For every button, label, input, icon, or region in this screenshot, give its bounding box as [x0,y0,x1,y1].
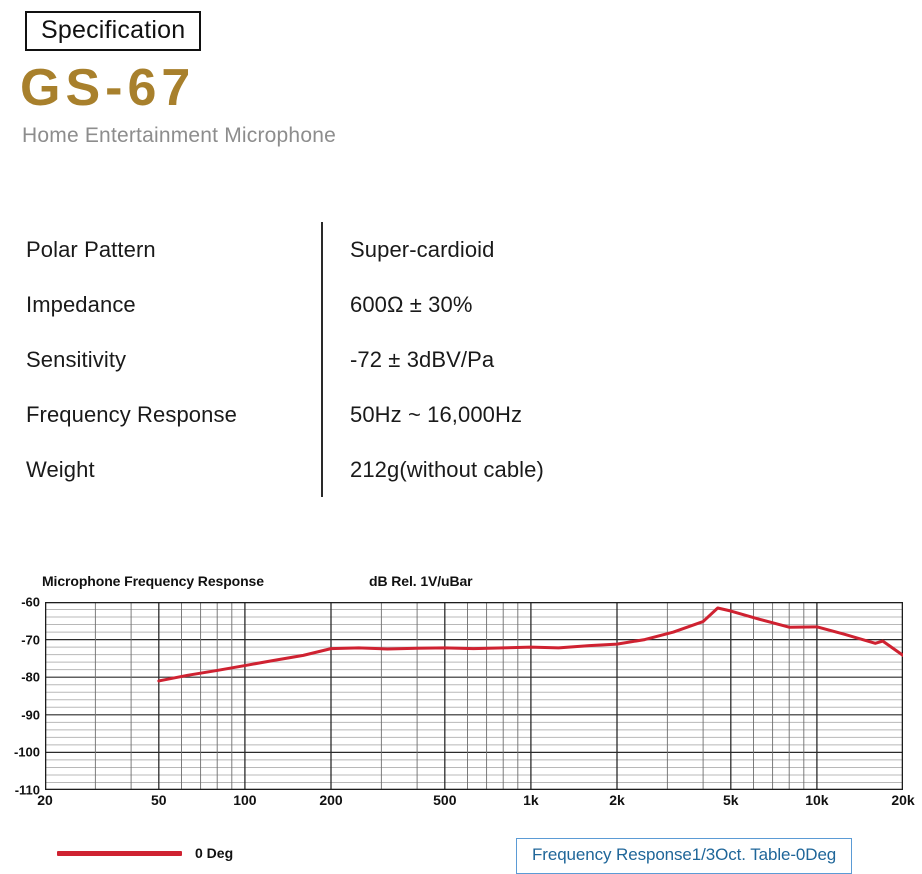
spec-key: Frequency Response [26,402,321,428]
chart-title: Microphone Frequency Response [42,573,264,589]
spec-key: Sensitivity [26,347,321,373]
x-axis-tick-label: 5k [723,792,739,808]
spec-value: 212g(without cable) [350,457,544,483]
spec-value: -72 ± 3dBV/Pa [350,347,494,373]
x-axis-tick-label: 100 [233,792,256,808]
spec-value: 50Hz ~ 16,000Hz [350,402,522,428]
product-subtitle: Home Entertainment Microphone [22,124,336,148]
column-divider [321,277,323,332]
y-axis-tick-label: -70 [21,632,40,647]
column-divider [321,442,323,497]
y-axis-tick-label: -90 [21,707,40,722]
frequency-response-plot [45,602,903,790]
x-axis-tick-label: 500 [433,792,456,808]
y-axis-tick-label: -80 [21,670,40,685]
legend-color-swatch [57,851,182,856]
x-axis-tick-label: 2k [609,792,625,808]
y-axis-tick-label: -60 [21,595,40,610]
spec-key: Impedance [26,292,321,318]
spec-value: Super-cardioid [350,237,494,263]
table-row: Impedance 600Ω ± 30% [26,277,666,332]
x-axis-labels: 20501002005001k2k5k10k20k [0,792,922,816]
chart-unit-label: dB Rel. 1V/uBar [369,573,473,589]
chart-legend: 0 Deg [57,845,233,861]
frequency-response-chart: Microphone Frequency Response dB Rel. 1V… [0,560,922,874]
table-row: Frequency Response 50Hz ~ 16,000Hz [26,387,666,442]
y-axis-tick-label: -100 [14,745,40,760]
x-axis-tick-label: 20 [37,792,53,808]
x-axis-tick-label: 1k [523,792,539,808]
y-axis-labels: -60-70-80-90-100-110 [0,602,45,790]
x-axis-tick-label: 20k [891,792,914,808]
spec-key: Polar Pattern [26,237,321,263]
x-axis-tick-label: 200 [319,792,342,808]
table-row: Sensitivity -72 ± 3dBV/Pa [26,332,666,387]
table-row: Polar Pattern Super-cardioid [26,222,666,277]
product-model-title: GS-67 [20,62,195,114]
column-divider [321,387,323,442]
legend-label: 0 Deg [195,845,233,861]
specification-table: Polar Pattern Super-cardioid Impedance 6… [26,222,666,497]
frequency-response-table-link[interactable]: Frequency Response1/3Oct. Table-0Deg [516,838,852,874]
specification-page: Specification GS-67 Home Entertainment M… [0,0,922,874]
specification-badge: Specification [25,11,201,51]
column-divider [321,222,323,277]
chart-plot-area [45,602,903,790]
spec-value: 600Ω ± 30% [350,292,472,318]
spec-key: Weight [26,457,321,483]
x-axis-tick-label: 10k [805,792,828,808]
x-axis-tick-label: 50 [151,792,167,808]
table-row: Weight 212g(without cable) [26,442,666,497]
column-divider [321,332,323,387]
